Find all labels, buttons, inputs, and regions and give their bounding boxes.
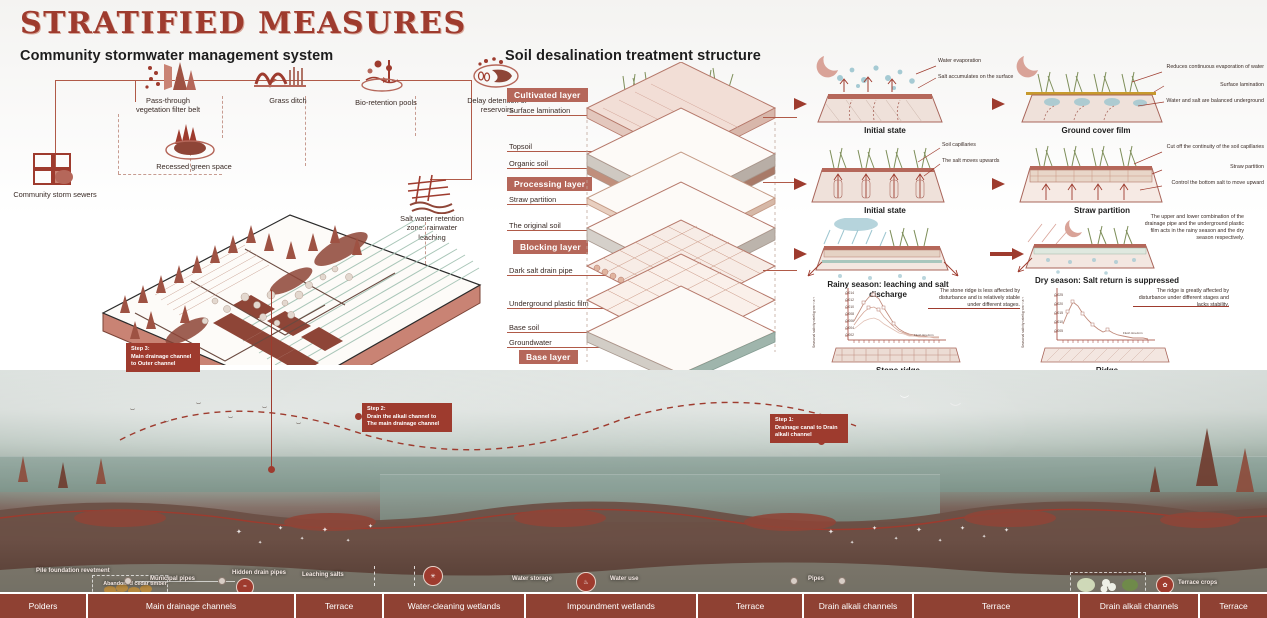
bracket-line [763, 117, 797, 118]
layer-label-original-soil: The original soil [509, 221, 561, 230]
chart-stone-ridge: Seasonal salinity rate/kg·cm⁻²·a⁻¹ [806, 286, 1006, 378]
page-title: STRATIFIED MEASURES [20, 6, 467, 41]
zone-terrace-1: Terrace [296, 594, 384, 618]
isometric-site-plan [95, 145, 485, 365]
svg-text:✦: ✦ [346, 538, 350, 544]
chart-ridge: Seasonal salinity rate/kg·cm⁻²·a⁻¹ [1015, 286, 1230, 378]
note-stone-ridge: The stone ridge is less affected by dist… [928, 288, 1020, 309]
annotation-water-evaporation: Water evaporation [938, 58, 1014, 65]
panel-double-arrow-icon [990, 248, 1024, 269]
water-infiltration-icon: ✳ [423, 566, 443, 586]
step-callout-3: Step 3: Main drainage channel to Outer c… [126, 343, 200, 372]
step2-text: Drain the alkali channel to The main dra… [367, 414, 439, 428]
panel-arrow-icon [992, 178, 1005, 190]
panel-arrow-icon [794, 248, 807, 260]
leaching-salt-sparkles: ✦✦ ✦✦ ✦✦ ✦ ✦✦ ✦✦ ✦✦ ✦✦ ✦ [0, 520, 1267, 580]
panel-arrow-icon [794, 178, 807, 190]
annotation-surface-lamination: Surface lamination [1164, 82, 1264, 89]
panel-arrow-icon [794, 98, 807, 110]
water-use-icon: ♨ [576, 572, 596, 592]
zone-label-bar: Polders Main drainage channels Terrace W… [0, 592, 1267, 618]
flow-label-community-storm-sewers: Community storm sewers [12, 190, 98, 199]
layer-label-straw-partition: Straw partition [509, 195, 556, 204]
tree-icon [1150, 466, 1160, 492]
bird-icon: ︶ [900, 396, 909, 405]
legend-hidden-drain-pipes: Hidden drain pipes [232, 570, 286, 578]
legend-terrace-crops: Terrace crops [1178, 580, 1217, 588]
legend-water-storage: Water storage [512, 576, 552, 584]
svg-text:✦: ✦ [982, 534, 986, 540]
bird-icon: ︶ [950, 404, 961, 415]
svg-text:✦: ✦ [300, 536, 304, 542]
legend-water-use: Water use [610, 576, 638, 584]
svg-text:✦: ✦ [938, 538, 942, 544]
tree-icon [1236, 448, 1254, 492]
svg-text:✦: ✦ [278, 525, 283, 532]
svg-text:✦: ✦ [894, 536, 898, 542]
svg-text:✦: ✦ [872, 525, 877, 532]
step3-connector [271, 290, 272, 472]
flow-label-pass-through-vegetation-filter-belt: Pass-through vegetation filter belt [132, 96, 204, 115]
municipal-pipe-dot [124, 577, 132, 585]
step1-number: Step 1: [775, 417, 843, 425]
flow-dashed-link [222, 96, 223, 138]
municipal-pipe-dot [218, 577, 226, 585]
legend-pipes: Pipes [808, 576, 824, 584]
sewer-grid-icon [28, 150, 82, 190]
step-callout-1: Step 1: Drainage canal to Drain alkali c… [770, 414, 848, 443]
layer-label-groundwater: Groundwater [509, 338, 552, 347]
zone-main-drainage-channels: Main drainage channels [88, 594, 296, 618]
svg-text:✦: ✦ [258, 540, 262, 546]
annotation-water-salt-balanced: Water and salt are balanced underground [1164, 98, 1264, 105]
retention-pool-icon [358, 58, 414, 94]
zone-drain-alkali-channels-1: Drain alkali channels [804, 594, 914, 618]
step2-number: Step 2: [367, 406, 447, 414]
svg-text:✦: ✦ [916, 526, 922, 534]
svg-text:✦: ✦ [322, 526, 328, 534]
chart-yticks-stone-ridge: 0.002 0.004 0.006 0.008 0.010 0.012 0.01… [814, 286, 854, 342]
note-underline [1133, 306, 1229, 307]
flow-trajectory [100, 390, 860, 500]
zone-drain-alkali-channels-2: Drain alkali channels [1080, 594, 1200, 618]
svg-text:✦: ✦ [828, 528, 834, 536]
annotation-cut-off-capillaries: Cut off the continuity of the soil capil… [1164, 144, 1264, 151]
panel-caption-ground-cover-film: Ground cover film [1026, 126, 1166, 136]
legend-municipal-pipes: Municipal pipes [150, 576, 195, 584]
layer-slab-stack [573, 62, 793, 374]
stone-ridge-illustration [828, 344, 968, 366]
panel-caption-initial-state: Initial state [820, 126, 950, 136]
svg-text:✦: ✦ [236, 528, 242, 536]
zone-terrace-2: Terrace [698, 594, 804, 618]
annotation-reduces-evaporation: Reduces continuous evaporation of water [1164, 64, 1264, 71]
zone-terrace-4: Terrace [1200, 594, 1267, 618]
bracket-line [763, 182, 797, 183]
panel-caption-dry-season: Dry season: Salt return is suppressed [1032, 276, 1182, 286]
annotation-salt-moves-upwards: The salt moves upwards [942, 158, 1014, 165]
layer-label-dark-salt-drain-pipe: Dark salt drain pipe [509, 266, 573, 275]
panel-arrow-icon [992, 98, 1005, 110]
panel-caption-initial-state-2: Initial state [820, 206, 950, 216]
tree-filter-icon [142, 60, 198, 94]
step1-text: Drainage canal to Drain alkali channel [775, 425, 837, 439]
panel-initial-state-capillaries: Soil capillaries The salt moves upwards … [800, 140, 1015, 220]
annotation-salt-accumulates: Salt accumulates on the surface [938, 74, 1014, 81]
svg-text:✦: ✦ [368, 523, 373, 530]
zone-water-cleaning-wetlands: Water-cleaning wetlands [384, 594, 526, 618]
soil-layer-exploded-diagram: Cultivated layer Processing layer Blocki… [505, 62, 795, 372]
step3-marker [268, 466, 275, 473]
bracket-line [763, 270, 797, 271]
flow-label-bio-retention-pools: Bio-retention pools [348, 98, 424, 107]
chart-xlabel-ridge: Flush time/min [1123, 332, 1143, 335]
annotation-control-bottom-salt: Control the bottom salt to move upward [1164, 180, 1264, 187]
pipe-dot [838, 577, 846, 585]
grass-ditch-icon [252, 58, 308, 92]
legend-leaching-salts: Leaching salts [302, 572, 344, 580]
step3-text: Main drainage channel to Outer channel [131, 354, 191, 368]
pipe-dot [790, 577, 798, 585]
annotation-drainage-pipe-film: The upper and lower combination of the d… [1140, 214, 1244, 242]
layer-label-topsoil: Topsoil [509, 142, 532, 151]
annotation-soil-capillaries: Soil capillaries [942, 142, 1014, 149]
terrace-crops-photo [1074, 575, 1142, 593]
chart-xlabel-stone-ridge: Flush time/min [914, 334, 934, 337]
leaching-arrow [414, 566, 415, 586]
step-callout-2: Step 2: Drain the alkali channel to The … [362, 403, 452, 432]
svg-text:✦: ✦ [960, 525, 965, 532]
zone-polders: Polders [0, 594, 88, 618]
step2-marker [355, 413, 362, 420]
layer-label-surface-lamination: Surface lamination [509, 106, 570, 115]
layer-group-chip-base: Base layer [519, 350, 578, 364]
zone-impoundment-wetlands: Impoundment wetlands [526, 594, 698, 618]
note-underline [928, 308, 1020, 309]
layer-label-base-soil: Base soil [509, 323, 539, 332]
tree-icon [1196, 428, 1218, 486]
flow-label-grass-ditch: Grass ditch [258, 96, 318, 105]
panel-ground-cover-film: Reduces continuous evaporation of water … [1012, 48, 1267, 136]
svg-text:✦: ✦ [1004, 527, 1009, 534]
zone-terrace-3: Terrace [914, 594, 1080, 618]
svg-text:✦: ✦ [850, 540, 854, 546]
ridge-illustration [1037, 344, 1177, 366]
leaching-arrow [374, 566, 375, 586]
tree-icon [58, 462, 68, 488]
layer-label-organic-soil: Organic soil [509, 159, 548, 168]
tree-icon [18, 456, 28, 482]
annotation-straw-partition: Straw partition [1164, 164, 1264, 171]
panel-straw-partition: Cut off the continuity of the soil capil… [1012, 140, 1267, 220]
panel-initial-state-evaporation: Water evaporation Salt accumulates on th… [800, 48, 1015, 136]
step3-number: Step 3: [131, 346, 195, 354]
chart-yticks-ridge: 0.005 0.010 0.015 0.020 0.025 [1023, 286, 1063, 342]
